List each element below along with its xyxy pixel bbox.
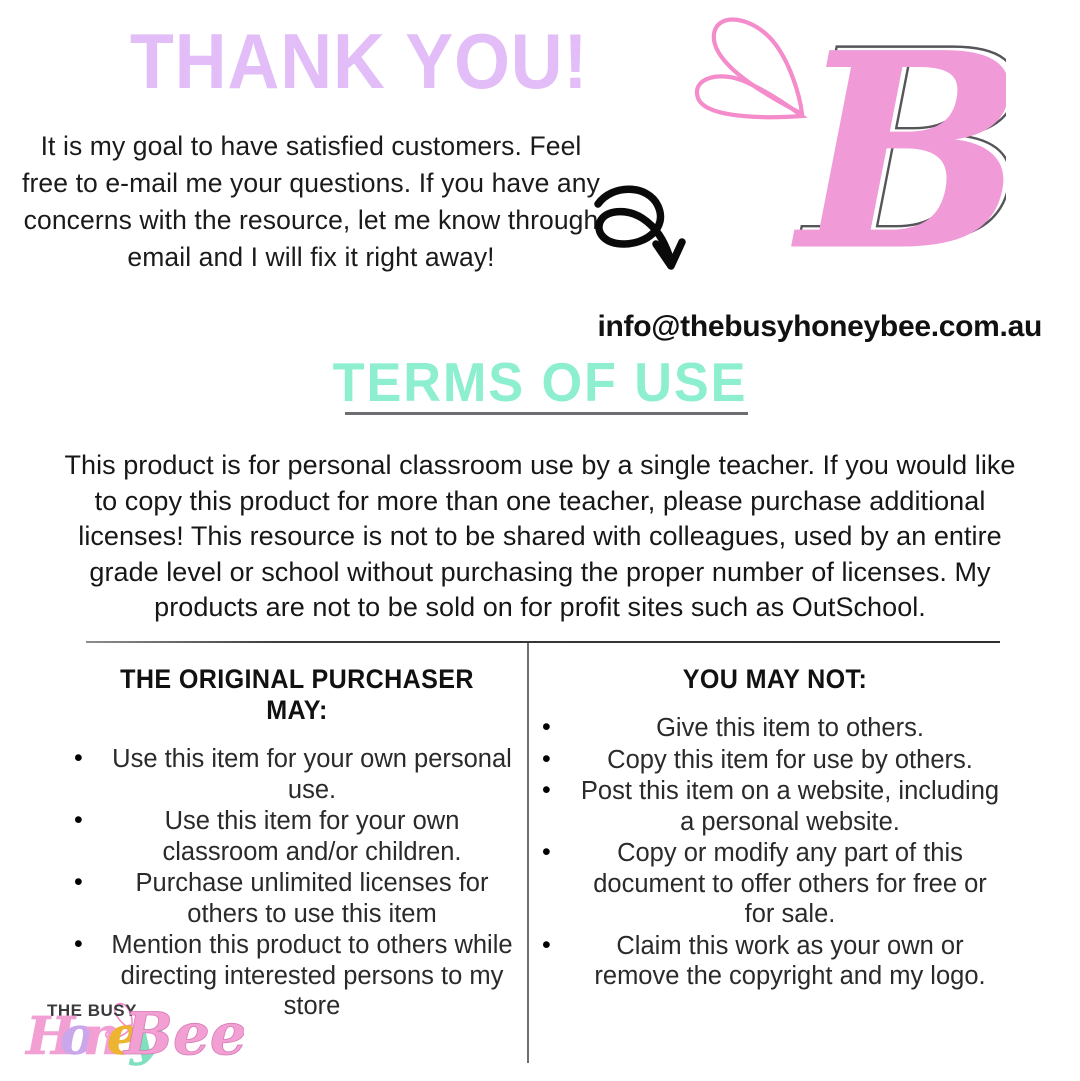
svg-text:B: B bbox=[790, 8, 1006, 308]
intro-paragraph: It is my goal to have satisfied customer… bbox=[16, 128, 606, 276]
bullet-may-not-item: Copy or modify any part of this document… bbox=[570, 838, 1010, 930]
brand-logo-the-busy-honey-bee: THE BUSY Honey Bee bbox=[14, 992, 244, 1076]
bee-wings-icon: B B bbox=[676, 8, 1006, 308]
bullet-may-not-item: Post this item on a website, including a… bbox=[570, 776, 1010, 837]
svg-text:Bee: Bee bbox=[122, 1000, 244, 1068]
column-you-may-not: YOU MAY NOT: Give this item to others.Co… bbox=[540, 664, 1010, 993]
terms-paragraph: This product is for personal classroom u… bbox=[50, 448, 1030, 626]
vertical-divider bbox=[527, 643, 529, 1063]
bullet-list-may: Use this item for your own personal use.… bbox=[72, 744, 522, 1022]
bullet-may-not-item: Copy this item for use by others. bbox=[570, 745, 1010, 776]
terms-of-use-heading: TERMS OF USE bbox=[27, 355, 1053, 410]
column-header-may: THE ORIGINAL PURCHASER MAY: bbox=[88, 664, 507, 726]
email-address[interactable]: info@thebusyhoneybee.com.au bbox=[0, 310, 1042, 344]
bullet-list-may-not: Give this item to others.Copy this item … bbox=[540, 713, 1010, 992]
bullet-may-not-item: Claim this work as your own or remove th… bbox=[570, 931, 1010, 992]
bullet-may-item: Use this item for your own personal use. bbox=[102, 744, 522, 805]
terms-heading-underline bbox=[345, 412, 748, 415]
bullet-may-item: Purchase unlimited licenses for others t… bbox=[102, 868, 522, 929]
column-original-purchaser-may: THE ORIGINAL PURCHASER MAY: Use this ite… bbox=[72, 664, 522, 1023]
page-title-thank-you: THANK YOU! bbox=[130, 22, 516, 100]
horizontal-divider bbox=[86, 641, 1000, 643]
bullet-may-not-item: Give this item to others. bbox=[570, 713, 1010, 744]
column-header-may-not: YOU MAY NOT: bbox=[556, 664, 993, 695]
bullet-may-item: Use this item for your own classroom and… bbox=[102, 806, 522, 867]
